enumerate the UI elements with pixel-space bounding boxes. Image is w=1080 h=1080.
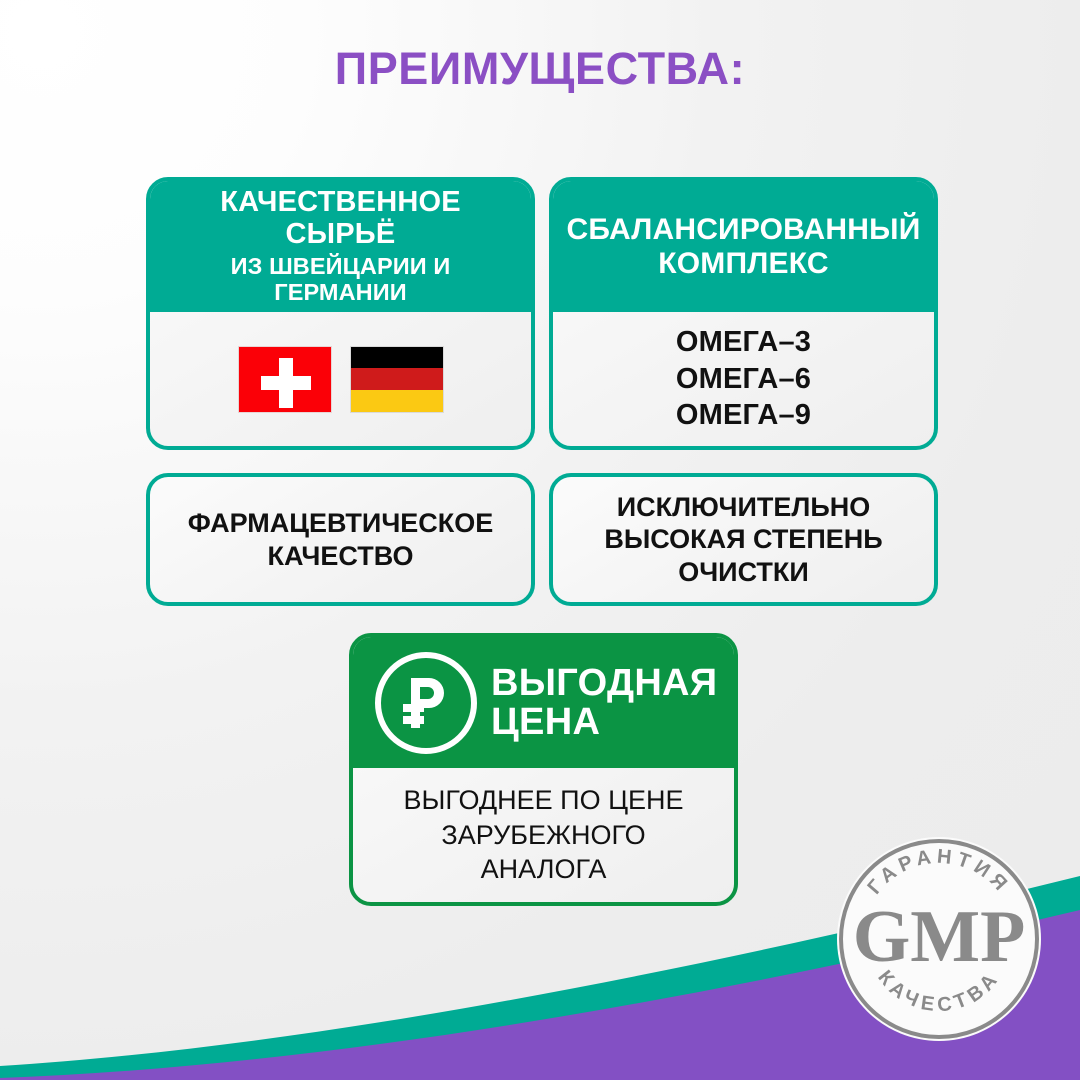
card-body-high-purification: ИСКЛЮЧИТЕЛЬНО ВЫСОКАЯ СТЕПЕНЬ ОЧИСТКИ bbox=[553, 477, 934, 602]
card4-text: ИСКЛЮЧИТЕЛЬНО ВЫСОКАЯ СТЕПЕНЬ ОЧИСТКИ bbox=[604, 491, 882, 588]
swiss-cross-vertical bbox=[279, 358, 293, 408]
card1-title-line1: КАЧЕСТВЕННОЕ СЫРЬЁ bbox=[162, 187, 519, 250]
card5-title-line1: ВЫГОДНАЯ bbox=[491, 664, 717, 703]
gmp-quality-stamp: ГАРАНТИЯ GMP КАЧЕСТВА bbox=[833, 833, 1045, 1045]
page-title: ПРЕИМУЩЕСТВА: bbox=[0, 44, 1080, 94]
card5-title-line2: ЦЕНА bbox=[491, 703, 717, 742]
card-balanced-complex: СБАЛАНСИРОВАННЫЙ КОМПЛЕКС ОМЕГА–3 ОМЕГА–… bbox=[549, 177, 938, 450]
card2-title-line1: СБАЛАНСИРОВАННЫЙ bbox=[563, 213, 924, 247]
card-pharmaceutical-quality: ФАРМАЦЕВТИЧЕСКОЕ КАЧЕСТВО bbox=[146, 473, 535, 606]
infographic-canvas: ПРЕИМУЩЕСТВА: КАЧЕСТВЕННОЕ СЫРЬЁ ИЗ ШВЕЙ… bbox=[0, 0, 1080, 1080]
germany-flag-icon bbox=[350, 346, 444, 413]
germany-stripe-red bbox=[351, 368, 443, 390]
germany-stripe-gold bbox=[351, 390, 443, 412]
card-body-favourable-price: ВЫГОДНЕЕ ПО ЦЕНЕ ЗАРУБЕЖНОГО АНАЛОГА bbox=[353, 768, 734, 902]
omega-list: ОМЕГА–3 ОМЕГА–6 ОМЕГА–9 bbox=[676, 324, 811, 434]
card1-title-line2: ИЗ ШВЕЙЦАРИИ И ГЕРМАНИИ bbox=[162, 254, 519, 306]
card-body-pharmaceutical-quality: ФАРМАЦЕВТИЧЕСКОЕ КАЧЕСТВО bbox=[150, 477, 531, 602]
card-body-omega-list: ОМЕГА–3 ОМЕГА–6 ОМЕГА–9 bbox=[553, 312, 934, 446]
card-favourable-price: ВЫГОДНАЯ ЦЕНА ВЫГОДНЕЕ ПО ЦЕНЕ ЗАРУБЕЖНО… bbox=[349, 633, 738, 906]
card-quality-raw-material: КАЧЕСТВЕННОЕ СЫРЬЁ ИЗ ШВЕЙЦАРИИ И ГЕРМАН… bbox=[146, 177, 535, 450]
card2-title-line2: КОМПЛЕКС bbox=[563, 247, 924, 281]
card-header-balanced-complex: СБАЛАНСИРОВАННЫЙ КОМПЛЕКС bbox=[553, 181, 934, 312]
ruble-icon bbox=[375, 652, 477, 754]
card-header-quality-raw-material: КАЧЕСТВЕННОЕ СЫРЬЁ ИЗ ШВЕЙЦАРИИ И ГЕРМАН… bbox=[150, 181, 531, 312]
card-body-flags bbox=[150, 312, 531, 446]
stamp-center-text: GMP bbox=[853, 896, 1026, 978]
card-high-purification: ИСКЛЮЧИТЕЛЬНО ВЫСОКАЯ СТЕПЕНЬ ОЧИСТКИ bbox=[549, 473, 938, 606]
switzerland-flag-icon bbox=[238, 346, 332, 413]
card-header-favourable-price: ВЫГОДНАЯ ЦЕНА bbox=[353, 637, 734, 768]
card5-text: ВЫГОДНЕЕ ПО ЦЕНЕ ЗАРУБЕЖНОГО АНАЛОГА bbox=[403, 783, 683, 887]
germany-stripe-black bbox=[351, 347, 443, 369]
card3-text: ФАРМАЦЕВТИЧЕСКОЕ КАЧЕСТВО bbox=[188, 507, 494, 572]
